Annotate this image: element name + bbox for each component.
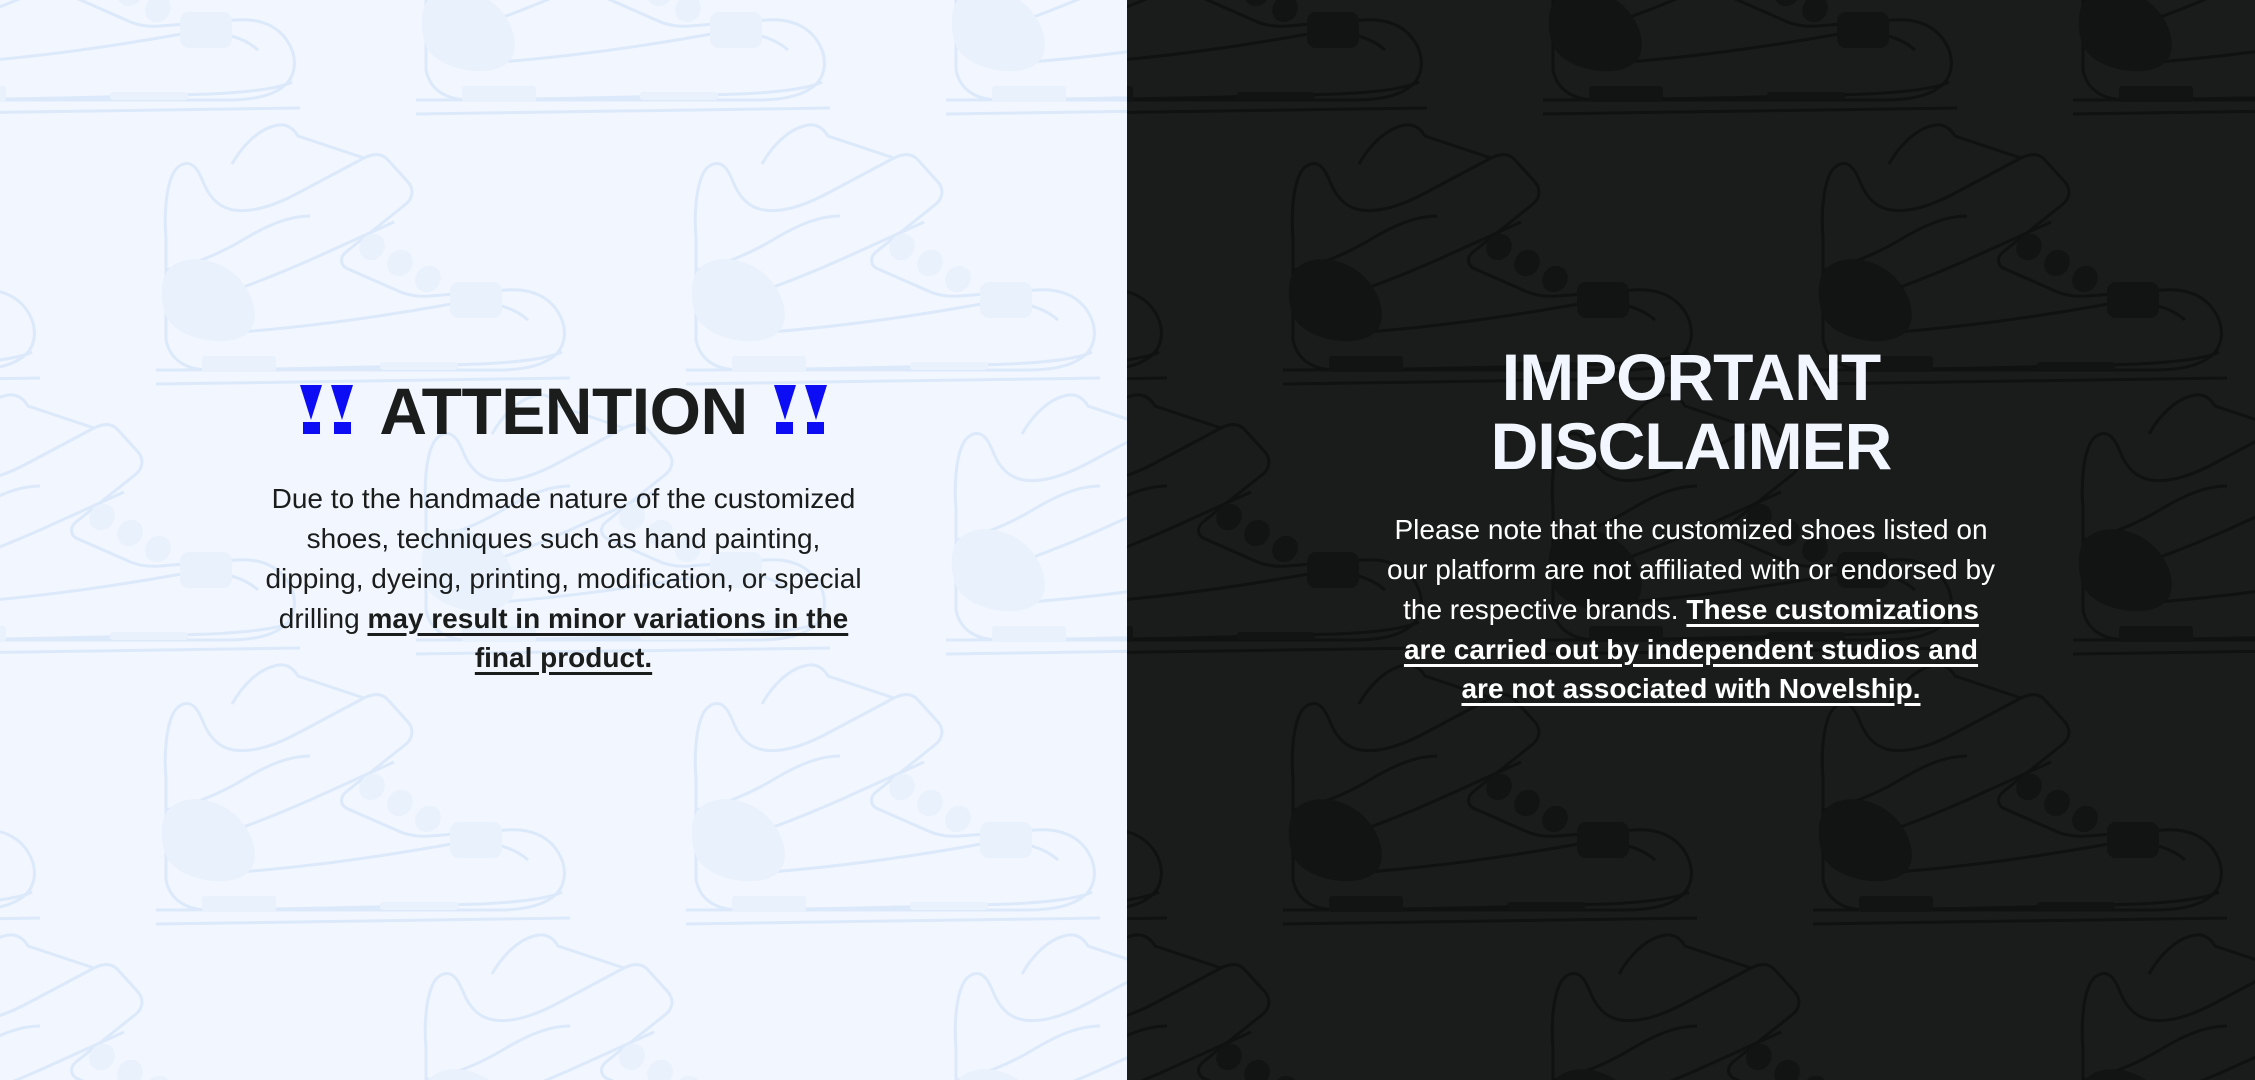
attention-heading-text: ATTENTION	[379, 378, 747, 445]
attention-body: Due to the handmade nature of the custom…	[264, 479, 864, 678]
disclaimer-heading-line1: IMPORTANT	[1239, 343, 2143, 412]
attention-content: ATTENTION Due to the handmade nature of …	[0, 378, 1127, 678]
disclaimer-panel: IMPORTANT DISCLAIMER Please note that th…	[1127, 0, 2255, 1080]
double-exclamation-icon-right	[774, 385, 827, 434]
disclaimer-heading-line2: DISCLAIMER	[1239, 412, 2143, 481]
disclaimer-content: IMPORTANT DISCLAIMER Please note that th…	[1127, 343, 2255, 709]
double-exclamation-icon-left	[300, 385, 353, 434]
disclaimer-heading: IMPORTANT DISCLAIMER	[1239, 343, 2143, 480]
attention-heading: ATTENTION	[120, 378, 1007, 445]
disclaimer-body: Please note that the customized shoes li…	[1381, 510, 2001, 709]
split-notice-banner: ATTENTION Due to the handmade nature of …	[0, 0, 2255, 1080]
attention-panel: ATTENTION Due to the handmade nature of …	[0, 0, 1127, 1080]
attention-body-emphasis: may result in minor variations in the fi…	[367, 603, 848, 674]
